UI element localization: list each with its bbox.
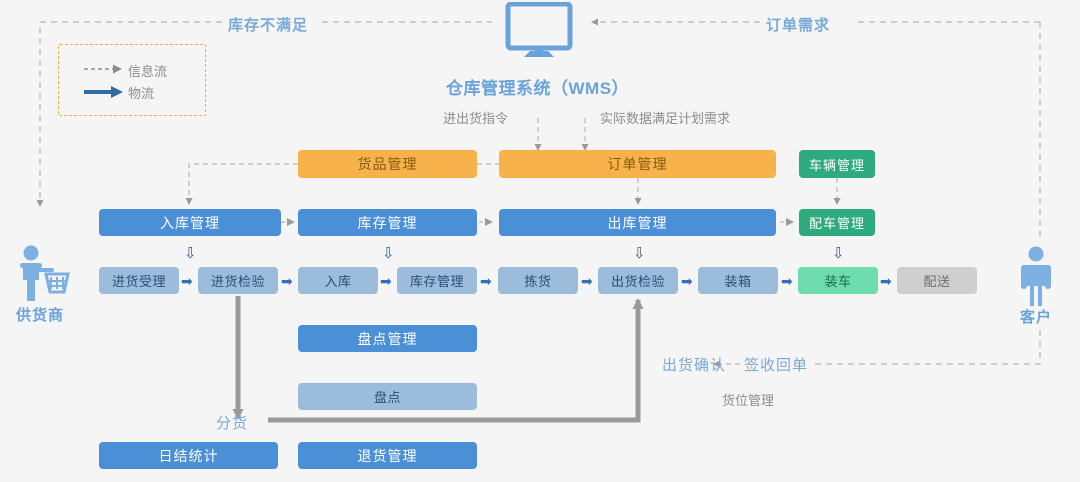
hollow-down-arrow-icon: ⇩ <box>382 246 395 261</box>
node-inventory-management[interactable]: 库存管理 <box>298 209 477 236</box>
legend-box <box>58 44 206 116</box>
label-location-mgmt: 货位管理 <box>722 390 774 409</box>
node-picking[interactable]: 拣货 <box>498 267 578 294</box>
logistics-flow-arrow-icon <box>82 84 124 100</box>
hollow-down-arrow-icon: ⇩ <box>184 246 197 261</box>
node-shipping-inspection[interactable]: 出货检验 <box>598 267 678 294</box>
process-arrow-icon: ➡ <box>281 274 293 288</box>
label-order-demand: 订单需求 <box>766 14 830 35</box>
label-actual-data: 实际数据满足计划需求 <box>600 108 730 127</box>
process-arrow-icon: ➡ <box>880 274 892 288</box>
node-stocktaking-management[interactable]: 盘点管理 <box>298 325 477 352</box>
hollow-down-arrow-icon: ⇩ <box>832 246 845 261</box>
node-vehicle-management[interactable]: 车辆管理 <box>799 150 875 178</box>
process-arrow-icon: ➡ <box>480 274 492 288</box>
node-packing[interactable]: 装箱 <box>698 267 778 294</box>
process-arrow-icon: ➡ <box>681 274 693 288</box>
node-stocktaking[interactable]: 盘点 <box>298 383 477 410</box>
label-signed-receipt: 签收回单 <box>744 354 808 375</box>
diagram-canvas: 仓库管理系统（WMS） 信息流 物流 库存不满足 订单需求 进出货指令 实际数据… <box>0 0 1080 482</box>
supplier-person-basket-icon <box>12 244 72 304</box>
node-put-in-storage[interactable]: 入库 <box>298 267 378 294</box>
legend-info-flow-label: 信息流 <box>128 61 167 80</box>
node-daily-statistics[interactable]: 日结统计 <box>99 442 278 469</box>
process-arrow-icon: ➡ <box>380 274 392 288</box>
wms-title: 仓库管理系统（WMS） <box>446 74 629 99</box>
monitor-icon <box>504 2 574 58</box>
node-inbound-management[interactable]: 入库管理 <box>99 209 281 236</box>
process-arrow-icon: ➡ <box>781 274 793 288</box>
node-loading[interactable]: 装车 <box>798 267 878 294</box>
node-inventory-control[interactable]: 库存管理 <box>397 267 477 294</box>
label-split-goods: 分货 <box>216 412 248 433</box>
label-stock-not-enough: 库存不满足 <box>228 14 308 35</box>
node-receiving-inspection[interactable]: 进货检验 <box>198 267 278 294</box>
supplier-label: 供货商 <box>4 304 76 325</box>
info-flow-arrow-icon <box>82 62 124 76</box>
node-delivery[interactable]: 配送 <box>897 267 977 294</box>
process-arrow-icon: ➡ <box>581 274 593 288</box>
legend-logistics-flow-label: 物流 <box>128 83 154 102</box>
label-shipment-confirm: 出货确认 <box>662 354 726 375</box>
customer-person-icon <box>1014 246 1058 308</box>
node-receiving-acceptance[interactable]: 进货受理 <box>99 267 179 294</box>
node-return-management[interactable]: 退货管理 <box>298 442 477 469</box>
label-in-out-command: 进出货指令 <box>443 108 508 127</box>
node-dispatch-management[interactable]: 配车管理 <box>799 209 875 236</box>
hollow-down-arrow-icon: ⇩ <box>633 246 646 261</box>
customer-label: 客户 <box>1000 306 1072 327</box>
node-outbound-management[interactable]: 出库管理 <box>499 209 776 236</box>
node-goods-management[interactable]: 货品管理 <box>298 150 477 178</box>
process-arrow-icon: ➡ <box>181 274 193 288</box>
node-order-management[interactable]: 订单管理 <box>499 150 776 178</box>
